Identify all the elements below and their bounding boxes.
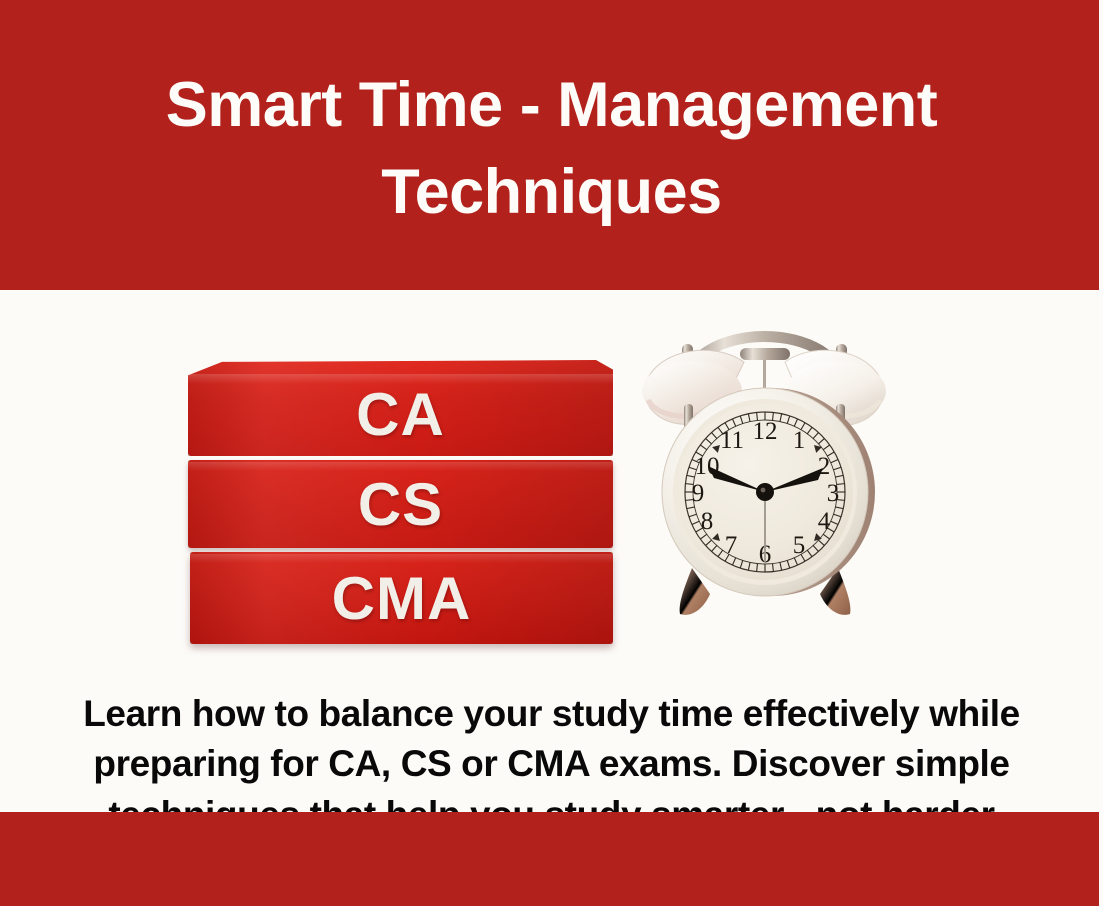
book-label-ca: CA xyxy=(356,380,445,449)
page-title: Smart Time - Management Techniques xyxy=(92,54,1012,236)
clock-numeral-5: 5 xyxy=(793,532,806,559)
clock-hammer xyxy=(740,348,790,360)
book-cma: CMA xyxy=(190,552,613,644)
clock-numeral-11: 11 xyxy=(720,427,744,454)
book-cs: CS xyxy=(188,460,613,548)
footer-band xyxy=(0,812,1103,906)
book-label-cs: CS xyxy=(358,470,443,539)
poster-canvas: Smart Time - Management Techniques CA CS… xyxy=(0,0,1103,906)
clock-numeral-8: 8 xyxy=(701,508,714,535)
book-stack-image: CA CS CMA xyxy=(188,360,613,640)
book-ca: CA xyxy=(188,360,613,456)
clock-numeral-4: 4 xyxy=(818,508,831,535)
clock-numeral-7: 7 xyxy=(725,532,738,559)
page-title-line-1: Smart Time - Management xyxy=(92,62,1012,149)
header-band: Smart Time - Management Techniques xyxy=(0,0,1103,290)
illustration-stage: CA CS CMA xyxy=(0,290,1103,812)
clock-center-cap-highlight xyxy=(761,488,766,493)
page-title-line-2: Techniques xyxy=(92,149,1012,236)
clock-numeral-9: 9 xyxy=(692,480,705,507)
right-edge-margin xyxy=(1099,0,1103,906)
alarm-clock-icon: 12 1 2 3 4 5 6 7 8 9 10 11 xyxy=(622,296,907,636)
clock-numeral-1: 1 xyxy=(793,427,806,454)
clock-numeral-3: 3 xyxy=(827,480,840,507)
book-label-cma: CMA xyxy=(332,564,472,633)
clock-center-cap xyxy=(756,483,774,501)
alarm-clock-image: 12 1 2 3 4 5 6 7 8 9 10 11 xyxy=(622,296,907,636)
clock-numeral-12: 12 xyxy=(753,418,778,445)
